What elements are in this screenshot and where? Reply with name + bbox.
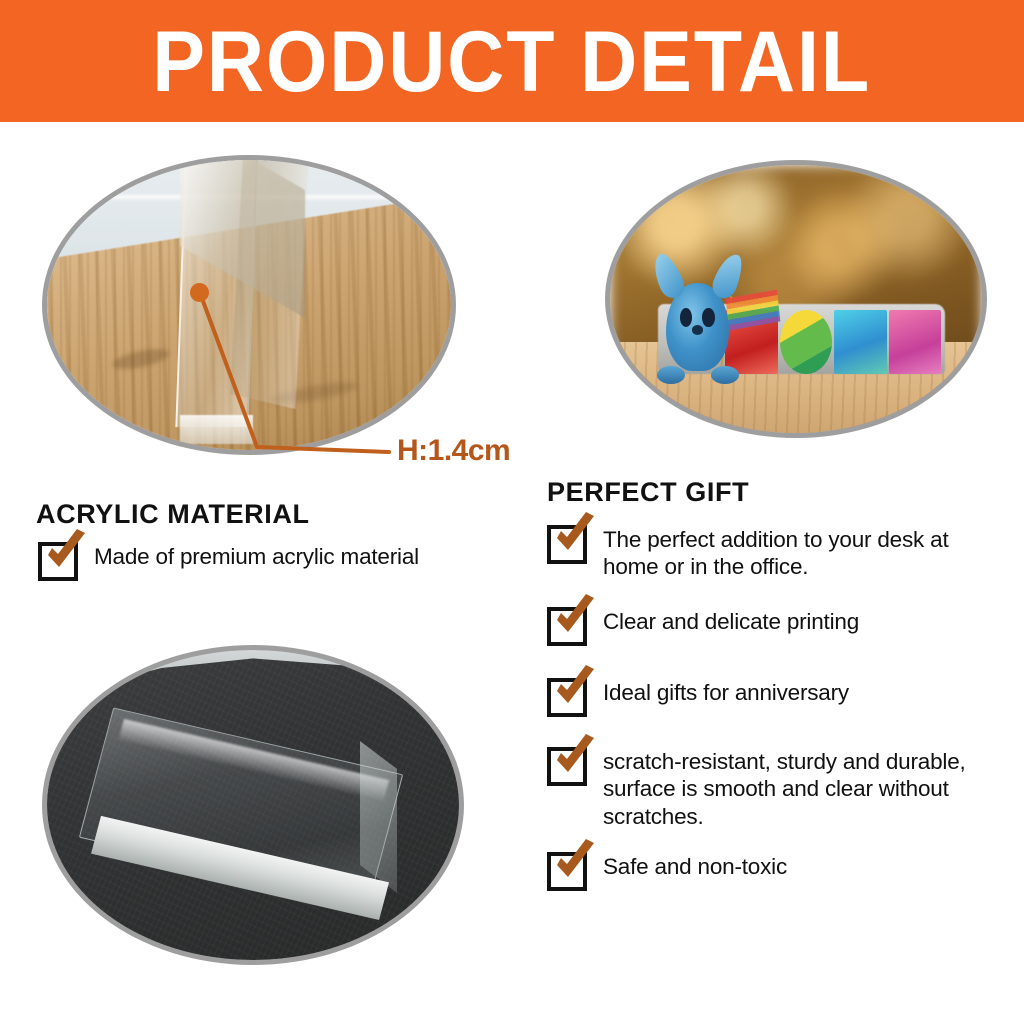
list-item: Safe and non-toxic (547, 848, 1007, 891)
checkmark-icon (549, 594, 599, 642)
checkmark-icon (549, 734, 599, 782)
list-item-label: Made of premium acrylic material (94, 538, 419, 570)
list-item-label: Ideal gifts for anniversary (603, 674, 849, 706)
header-banner: PRODUCT DETAIL (0, 0, 1024, 122)
list-item-label: Safe and non-toxic (603, 848, 787, 880)
list-item-label: scratch-resistant, sturdy and durable, s… (603, 743, 1007, 830)
feature-list-perfect-gift: The perfect addition to your desk at hom… (547, 521, 1007, 891)
stitch-figurine (666, 283, 729, 371)
list-item: The perfect addition to your desk at hom… (547, 521, 1007, 581)
stitch-eye-right (702, 308, 715, 327)
love-letter-o (780, 310, 832, 374)
stitch-nose (692, 325, 703, 335)
checkbox-checked-icon (547, 747, 587, 786)
gift-scene-photo (605, 160, 987, 438)
acrylic-slab-base-highlight (180, 415, 253, 444)
checkbox-checked-icon (547, 678, 587, 717)
section-heading-perfect-gift: PERFECT GIFT (547, 477, 749, 508)
checkbox-checked-icon (547, 525, 587, 564)
checkbox-checked-icon (547, 852, 587, 891)
section-heading-acrylic-material: ACRYLIC MATERIAL (36, 499, 310, 530)
checkmark-icon (549, 512, 599, 560)
stitch-foot-right (711, 366, 739, 384)
checkmark-icon (549, 665, 599, 713)
stitch-foot-left (657, 366, 685, 384)
list-item: scratch-resistant, sturdy and durable, s… (547, 743, 1007, 830)
list-item: Ideal gifts for anniversary (547, 674, 1007, 717)
feature-list-acrylic-material: Made of premium acrylic material (38, 538, 508, 581)
checkbox-checked-icon (38, 542, 78, 581)
list-item-label: Clear and delicate printing (603, 603, 859, 635)
checkmark-icon (40, 529, 90, 577)
acrylic-edge-scene (47, 160, 451, 450)
acrylic-edge-photo (42, 155, 456, 455)
page-title: PRODUCT DETAIL (153, 19, 872, 105)
thickness-callout-label: H:1.4cm (397, 434, 510, 468)
checkbox-checked-icon (547, 607, 587, 646)
love-letter-v (834, 310, 886, 374)
list-item: Clear and delicate printing (547, 603, 1007, 646)
stitch-eye-left (680, 308, 693, 327)
love-letter-e (889, 310, 941, 374)
list-item-label: The perfect addition to your desk at hom… (603, 521, 1007, 581)
acrylic-block-photo (42, 645, 464, 965)
list-item: Made of premium acrylic material (38, 538, 508, 581)
checkmark-icon (549, 839, 599, 887)
thickness-callout-dot (190, 283, 209, 302)
